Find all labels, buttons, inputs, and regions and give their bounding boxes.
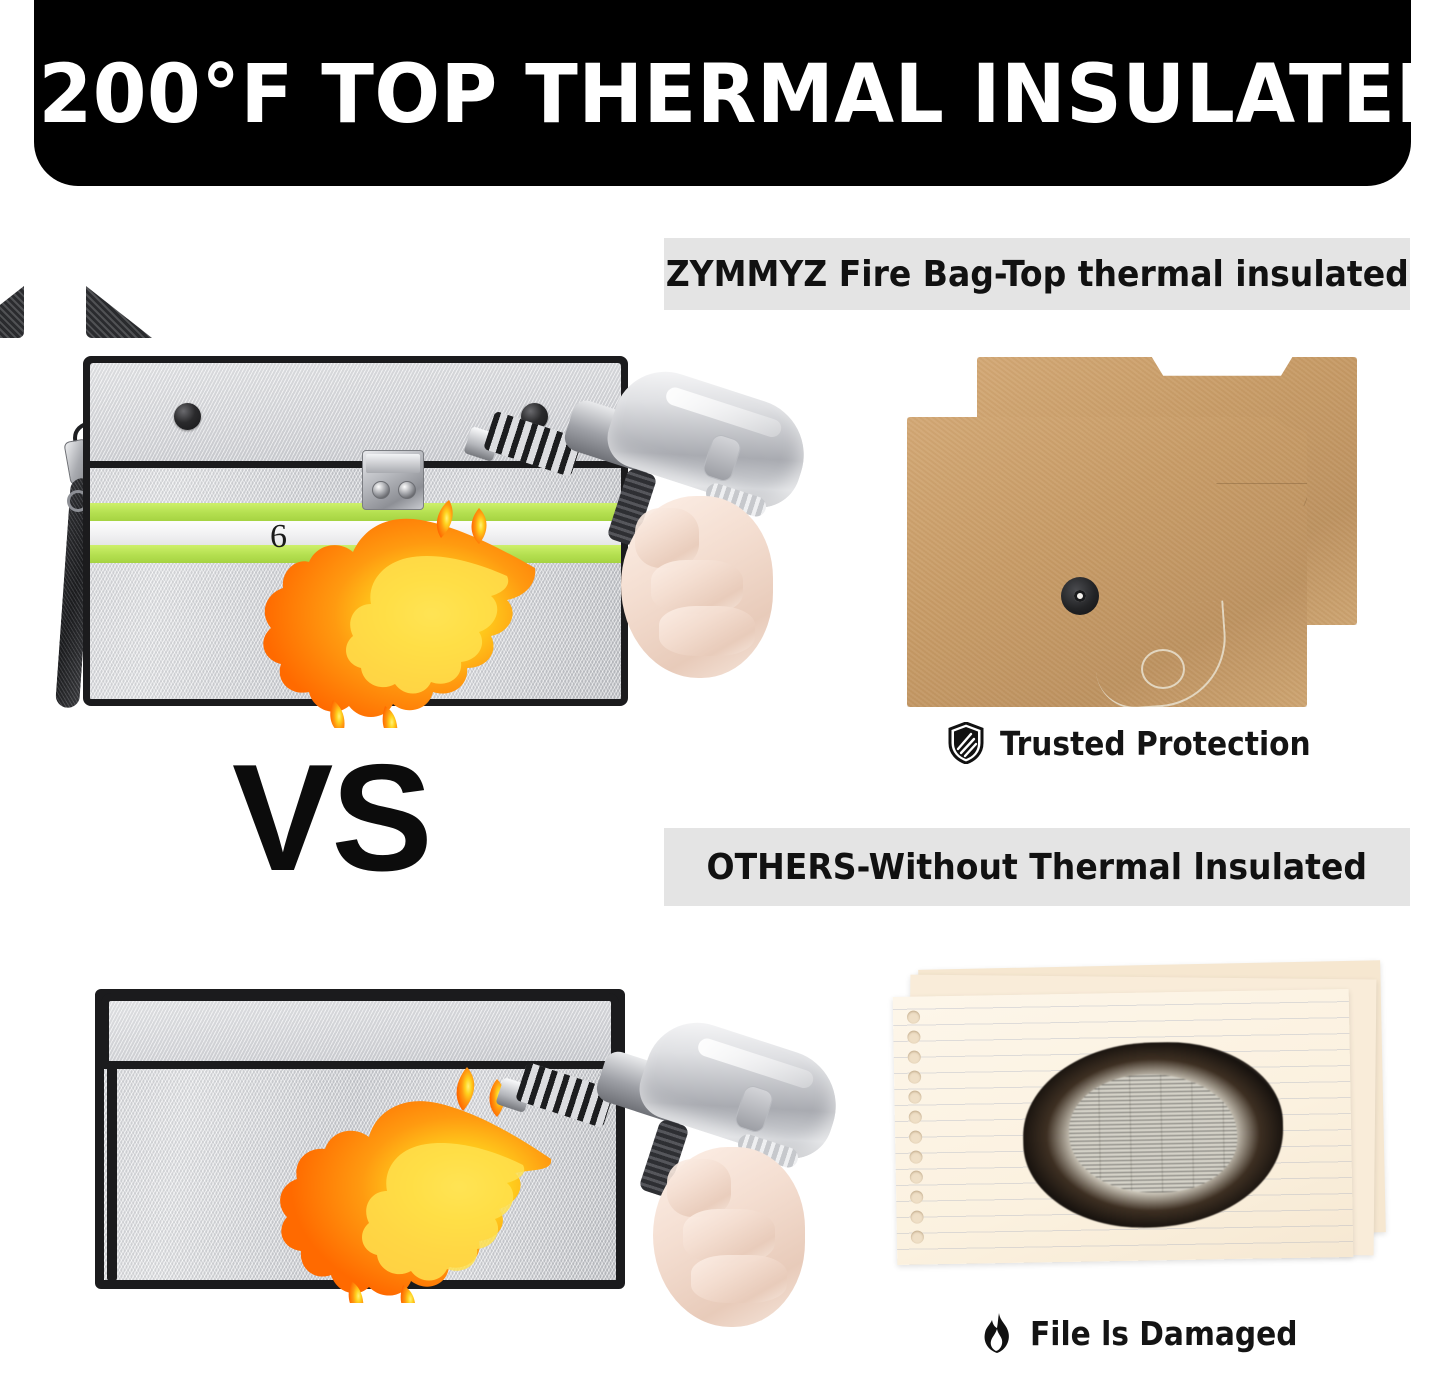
flame-icon [980,1312,1014,1354]
file-damaged-caption: File ls Damaged [980,1312,1298,1354]
reflective-stripe-upper [90,503,621,521]
lined-paper-sheet [893,989,1354,1265]
finger-ring [659,606,755,656]
infographic-page: 6200°F TOP THERMAL INSULATED ZYMMYZ Fire… [0,0,1445,1379]
charred-newspaper [1068,1073,1238,1194]
bottom-product-label-bar: OTHERS-Without Thermal lnsulated [664,828,1410,906]
envelope-string-loop [1141,649,1185,689]
finger-index [635,508,699,568]
clasp-rivet-left [372,481,390,499]
punch-holes [907,1010,929,1250]
bag-side-binding [107,1061,117,1281]
finger-ring [691,1255,787,1303]
burn-hole [1022,1040,1285,1230]
intact-envelopes-scene [905,355,1375,710]
top-product-label-text: ZYMMYZ Fire Bag-Top thermal insulated [665,254,1408,295]
bottom-product-label-text: OTHERS-Without Thermal lnsulated [707,847,1368,888]
shield-icon [948,722,984,764]
bottom-bag-scene [75,965,705,1310]
burned-paper-scene [885,965,1395,1295]
mesh-corner-right [0,286,24,338]
top-bag-scene: 6 [55,348,695,738]
vs-label: VS [232,742,431,894]
file-damaged-text: File ls Damaged [1030,1314,1298,1353]
top-product-label-bar: ZYMMYZ Fire Bag-Top thermal insulated [664,238,1410,310]
snap-button-left [174,403,201,430]
reflective-stripe-lower [90,545,621,563]
bag-flap-plain [101,993,619,1069]
trusted-protection-text: Trusted Protection [1000,724,1311,763]
clasp-rivet-right [398,481,416,499]
trusted-protection-caption: Trusted Protection [948,722,1311,764]
metal-clasp [362,450,424,510]
kraft-envelope-front [907,417,1307,707]
header-banner: 6200°F TOP THERMAL INSULATED [34,0,1411,186]
page-title: 6200°F TOP THERMAL INSULATED [0,55,1445,136]
stripe-gap [90,521,621,545]
mesh-corner-left [86,286,152,338]
bag-marking-text: 6 [270,518,287,556]
envelope-flap-crease [1207,483,1313,506]
